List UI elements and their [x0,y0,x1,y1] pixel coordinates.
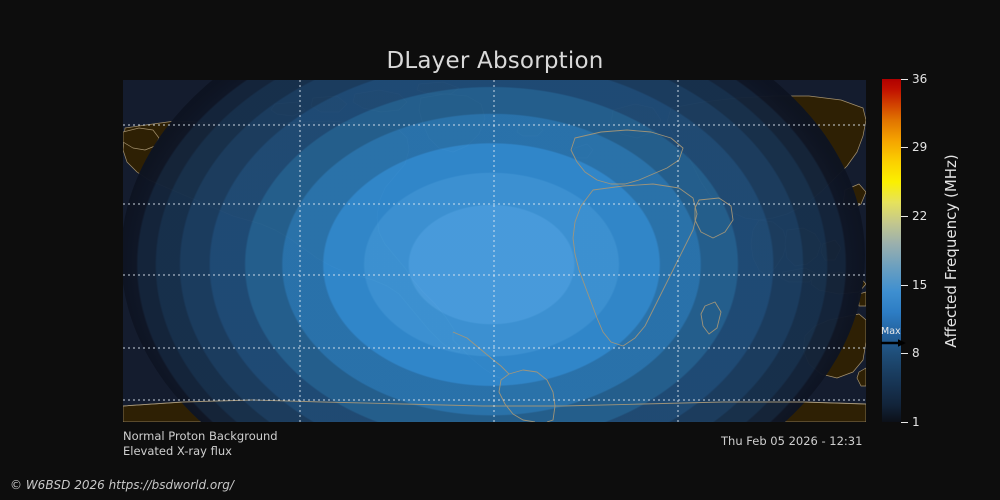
colorbar-tick-1 [901,422,908,423]
page-title: DLayer Absorption [0,48,990,74]
colorbar-gradient [882,79,901,422]
colorbar-label-36: 36 [912,72,927,86]
colorbar-tick-8 [901,353,908,354]
colorbar-label-29: 29 [912,140,927,154]
colorbar-label-15: 15 [912,278,927,292]
colorbar-axis-label-text: Affected Frequency (MHz) [942,154,960,348]
colorbar-tick-29 [901,147,908,148]
status-line-xray: Elevated X-ray flux [123,444,232,458]
colorbar-tick-22 [901,216,908,217]
colorbar-label-22: 22 [912,209,927,223]
colorbar-label-1: 1 [912,415,920,429]
map-canvas [123,80,866,422]
colorbar-tick-36 [901,79,908,80]
status-line-proton: Normal Proton Background [123,429,278,443]
timestamp: Thu Feb 05 2026 - 12:31 [721,434,862,448]
copyright-credit: © W6BSD 2026 https://bsdworld.org/ [10,478,234,492]
world-map[interactable] [123,80,866,422]
colorbar[interactable]: 36 29 22 15 8 1 [882,79,901,422]
colorbar-tick-15 [901,285,908,286]
colorbar-label-8: 8 [912,346,920,360]
colorbar-axis-label: Affected Frequency (MHz) [938,79,964,422]
dlayer-absorption-page: DLayer Absorption [0,0,1000,500]
